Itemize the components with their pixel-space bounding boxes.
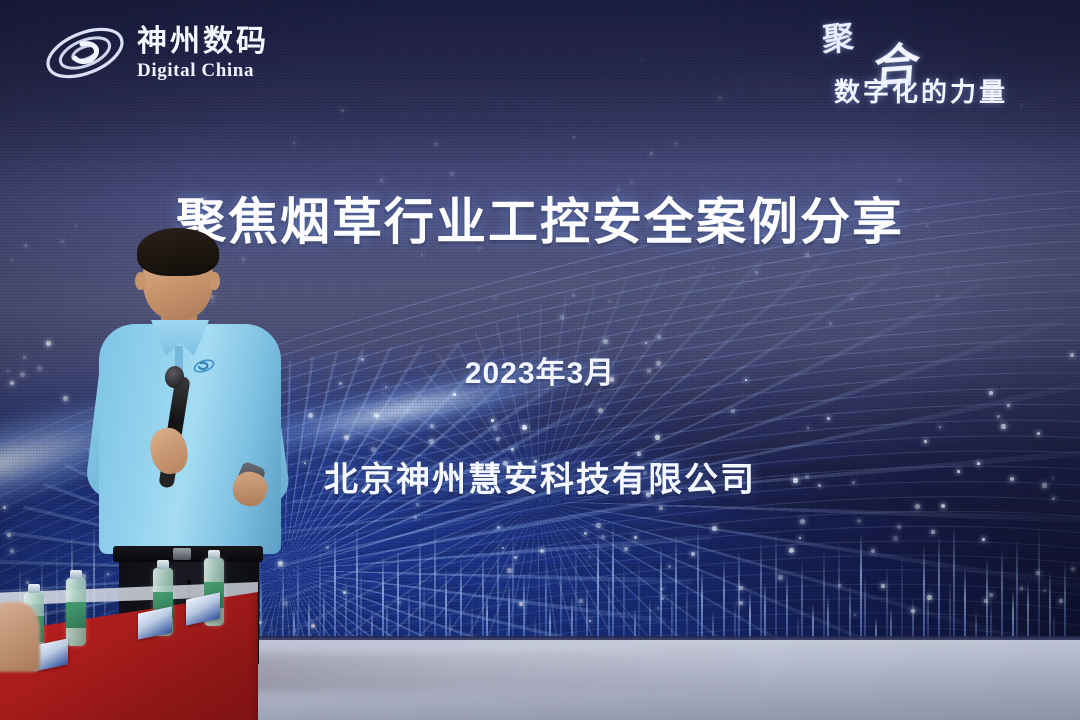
speaker-polo-shirt	[99, 324, 281, 554]
seated-attendee-silhouette	[0, 602, 40, 672]
bottle-cap	[70, 570, 82, 579]
bottle-label	[66, 602, 86, 628]
digital-china-logo: 神州数码 Digital China	[42, 22, 269, 84]
calligraphy-ju: 聚	[821, 12, 848, 62]
logo-english-name: Digital China	[137, 61, 269, 80]
bottle-cap	[208, 550, 220, 559]
bottle-cap	[157, 560, 169, 569]
slogan-subtitle: 数字化的力量	[834, 72, 1008, 109]
galaxy-swirl-icon	[42, 22, 128, 84]
speaker-ear-right	[209, 272, 220, 290]
bottle-cap	[28, 584, 40, 593]
water-bottle	[66, 578, 86, 646]
event-slogan-logo: 聚 合 数字化的力量	[796, 14, 1056, 114]
speaker-ear-left	[135, 272, 146, 290]
speaker-shirt-logo-icon	[193, 356, 215, 376]
speaker-hair	[137, 228, 219, 276]
logo-chinese-name: 神州数码	[137, 27, 269, 57]
conference-stage-photo: 聚焦烟草行业工控安全案例分享 2023年3月 北京神州慧安科技有限公司 神州数码…	[0, 0, 1080, 720]
